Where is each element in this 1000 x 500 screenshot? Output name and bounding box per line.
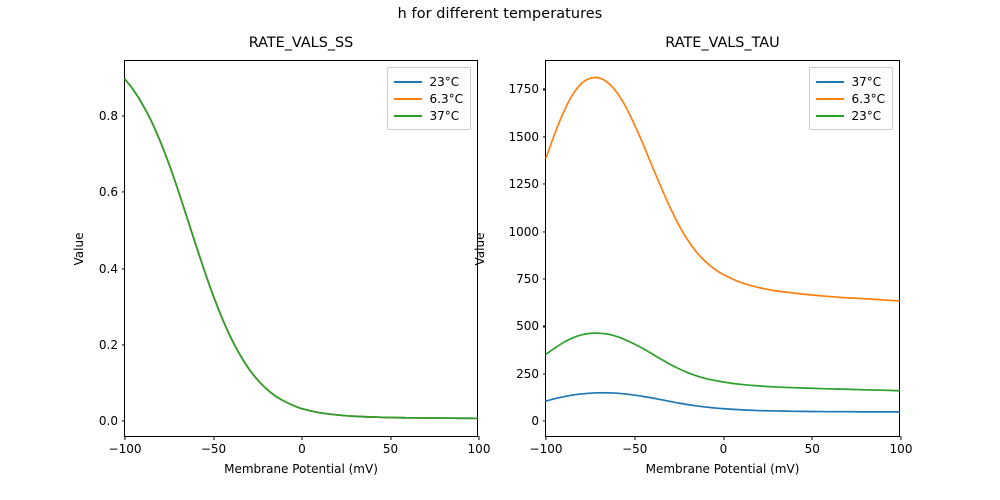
legend-tau[interactable]: 37°C6.3°C23°C bbox=[809, 67, 893, 130]
y-tick-mark bbox=[122, 344, 126, 345]
x-tick-mark bbox=[900, 436, 901, 440]
legend-entry-label: 23°C bbox=[852, 109, 882, 123]
x-tick-mark bbox=[124, 436, 125, 440]
series-line-37C bbox=[125, 79, 477, 418]
y-tick-mark bbox=[543, 326, 547, 327]
y-tick-label: 500 bbox=[516, 319, 539, 333]
y-tick-label: 1250 bbox=[508, 177, 539, 191]
y-axis-label-tau: Value bbox=[473, 209, 487, 289]
y-tick-mark bbox=[543, 421, 547, 422]
x-tick-label: 0 bbox=[720, 442, 728, 456]
y-tick-mark bbox=[122, 268, 126, 269]
y-tick-mark bbox=[122, 420, 126, 421]
y-tick-label: 0.2 bbox=[99, 338, 118, 352]
axes-rate-vals-tau: RATE_VALS_TAU Value Membrane Potential (… bbox=[545, 60, 900, 437]
x-tick-label: 0 bbox=[298, 442, 306, 456]
legend-entry[interactable]: 6.3°C bbox=[394, 90, 463, 107]
series-line-37C bbox=[546, 393, 899, 412]
y-tick-mark bbox=[543, 231, 547, 232]
series-line-23C bbox=[546, 333, 899, 391]
series-line-6.3C bbox=[125, 79, 477, 418]
y-tick-mark bbox=[122, 116, 126, 117]
x-tick-mark bbox=[301, 436, 302, 440]
x-axis-label-ss: Membrane Potential (mV) bbox=[125, 462, 477, 476]
legend-line-swatch bbox=[394, 98, 422, 100]
y-tick-mark bbox=[543, 373, 547, 374]
x-tick-label: 50 bbox=[805, 442, 820, 456]
legend-line-swatch bbox=[394, 81, 422, 83]
y-tick-label: 250 bbox=[516, 367, 539, 381]
legend-entry-label: 37°C bbox=[852, 75, 882, 89]
x-tick-label: −100 bbox=[109, 442, 142, 456]
legend-entry[interactable]: 6.3°C bbox=[816, 90, 885, 107]
y-tick-label: 0.8 bbox=[99, 109, 118, 123]
x-tick-mark bbox=[213, 436, 214, 440]
x-tick-label: −50 bbox=[622, 442, 647, 456]
y-tick-mark bbox=[543, 89, 547, 90]
y-tick-label: 0.4 bbox=[99, 262, 118, 276]
x-tick-label: 50 bbox=[383, 442, 398, 456]
x-tick-mark bbox=[545, 436, 546, 440]
x-tick-mark bbox=[723, 436, 724, 440]
y-tick-mark bbox=[543, 184, 547, 185]
x-tick-mark bbox=[634, 436, 635, 440]
y-tick-mark bbox=[543, 279, 547, 280]
series-line-23C bbox=[125, 79, 477, 418]
legend-entry[interactable]: 37°C bbox=[816, 73, 885, 90]
y-tick-label: 1500 bbox=[508, 130, 539, 144]
y-axis-label-ss: Value bbox=[72, 209, 86, 289]
y-tick-label: 0 bbox=[531, 414, 539, 428]
axes-title-ss: RATE_VALS_SS bbox=[125, 35, 477, 51]
legend-line-swatch bbox=[816, 98, 844, 100]
legend-entry[interactable]: 37°C bbox=[394, 107, 463, 124]
legend-entry-label: 37°C bbox=[430, 109, 460, 123]
y-tick-mark bbox=[122, 192, 126, 193]
matplotlib-figure: h for different temperatures RATE_VALS_S… bbox=[0, 0, 1000, 500]
y-tick-label: 0.0 bbox=[99, 414, 118, 428]
x-tick-label: 100 bbox=[890, 442, 913, 456]
y-tick-label: 1750 bbox=[508, 82, 539, 96]
figure-suptitle: h for different temperatures bbox=[0, 6, 1000, 22]
y-tick-label: 1000 bbox=[508, 225, 539, 239]
legend-entry-label: 6.3°C bbox=[430, 92, 463, 106]
y-tick-label: 750 bbox=[516, 272, 539, 286]
x-tick-label: 100 bbox=[468, 442, 491, 456]
x-tick-mark bbox=[390, 436, 391, 440]
y-tick-label: 0.6 bbox=[99, 185, 118, 199]
x-tick-mark bbox=[478, 436, 479, 440]
x-tick-mark bbox=[812, 436, 813, 440]
x-axis-label-tau: Membrane Potential (mV) bbox=[546, 462, 899, 476]
legend-line-swatch bbox=[816, 115, 844, 117]
axes-rate-vals-ss: RATE_VALS_SS Value Membrane Potential (m… bbox=[124, 60, 478, 437]
legend-line-swatch bbox=[394, 115, 422, 117]
legend-line-swatch bbox=[816, 81, 844, 83]
y-tick-mark bbox=[543, 136, 547, 137]
legend-ss[interactable]: 23°C6.3°C37°C bbox=[387, 67, 471, 130]
legend-entry-label: 6.3°C bbox=[852, 92, 885, 106]
legend-entry-label: 23°C bbox=[430, 75, 460, 89]
legend-entry[interactable]: 23°C bbox=[816, 107, 885, 124]
legend-entry[interactable]: 23°C bbox=[394, 73, 463, 90]
x-tick-label: −100 bbox=[530, 442, 563, 456]
x-tick-label: −50 bbox=[201, 442, 226, 456]
axes-title-tau: RATE_VALS_TAU bbox=[546, 35, 899, 51]
